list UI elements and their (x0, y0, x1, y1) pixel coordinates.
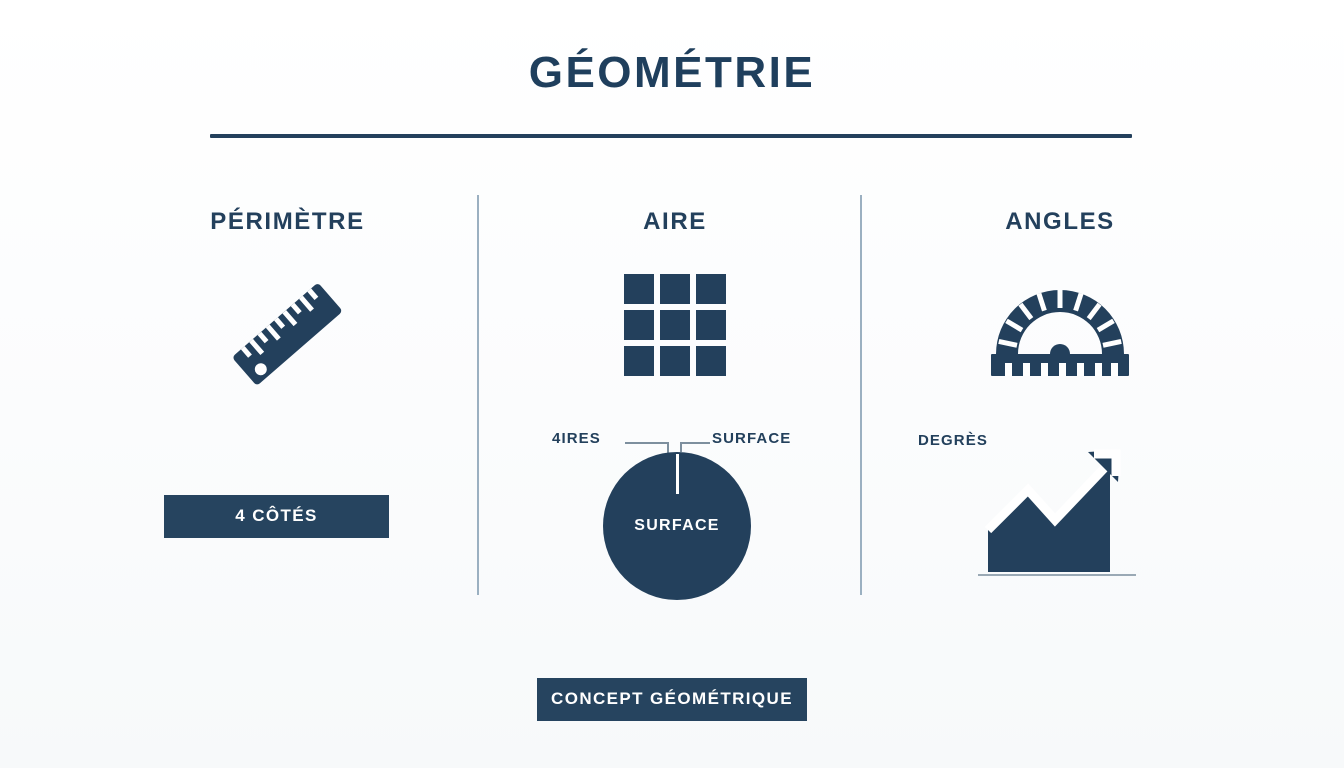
pie-center-label: SURFACE (634, 517, 720, 535)
protractor-icon (985, 272, 1135, 378)
footer-badge[interactable]: CONCEPT GÉOMÉTRIQUE (537, 678, 807, 721)
ruler-icon (223, 275, 353, 395)
pie-leader-line-right (680, 442, 710, 444)
pie-slice-divider (676, 454, 679, 494)
column-heading-aire: AIRE (490, 208, 860, 236)
protractor-icon-wrapper (880, 272, 1240, 378)
grid-cell (696, 310, 726, 340)
page-title: GÉOMÉTRIE (0, 48, 1344, 98)
grid-cell (696, 274, 726, 304)
title-divider-rule (210, 134, 1132, 138)
infographic-canvas: GÉOMÉTRIE PÉRIMÈTRE (0, 0, 1344, 768)
badge-four-sides[interactable]: 4 CÔTÉS (164, 495, 389, 538)
pie-callout-right: SURFACE (712, 430, 791, 447)
column-divider-left (477, 195, 479, 595)
grid-icon (624, 274, 726, 376)
column-heading-angles: ANGLES (880, 208, 1240, 236)
grid-icon-wrapper (490, 274, 860, 376)
column-angles: ANGLES (880, 190, 1240, 600)
grid-cell (660, 310, 690, 340)
pie-leader-line-left (625, 442, 669, 444)
column-aire: AIRE 4IRES SURFACE (490, 190, 860, 600)
column-heading-perimetre: PÉRIMÈTRE (110, 208, 465, 236)
pie-diagram: 4IRES SURFACE SURFACE (490, 430, 860, 600)
ruler-icon-wrapper (110, 275, 465, 395)
column-divider-right (860, 195, 862, 595)
growth-chart-baseline (978, 574, 1136, 576)
grid-cell (696, 346, 726, 376)
pie-callout-left: 4IRES (552, 430, 601, 447)
growth-chart: DEGRÈS (880, 426, 1240, 601)
grid-cell (624, 346, 654, 376)
column-perimetre: PÉRIMÈTRE (110, 190, 465, 600)
columns-container: PÉRIMÈTRE (0, 190, 1344, 600)
grid-cell (660, 346, 690, 376)
grid-cell (624, 274, 654, 304)
growth-chart-svg (970, 438, 1140, 578)
grid-cell (660, 274, 690, 304)
grid-cell (624, 310, 654, 340)
